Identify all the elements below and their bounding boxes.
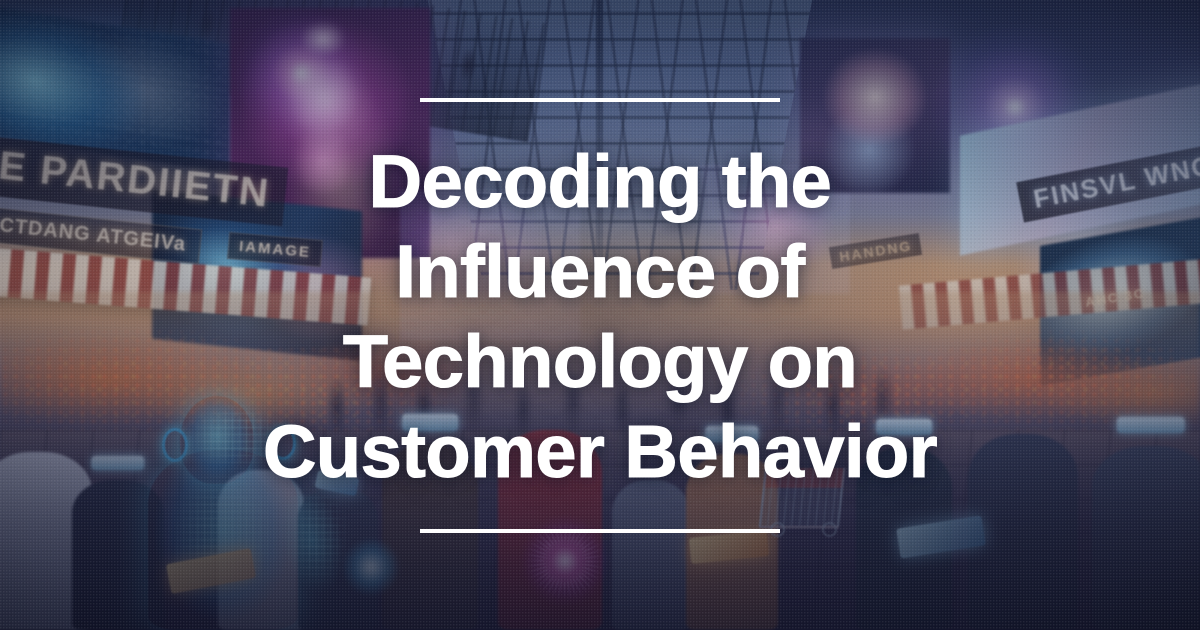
title-line-3: Technology on [263,317,937,407]
hero-banner: E PARDIIETN CTDANG ATGEIVa IAMAGE FINSVL… [0,0,1200,630]
divider-rule-top [420,98,780,102]
page-title: Decoding the Influence of Technology on … [263,137,937,497]
title-line-4: Customer Behavior [263,407,937,497]
divider-rule-bottom [420,529,780,533]
title-line-2: Influence of [263,227,937,317]
title-block: Decoding the Influence of Technology on … [0,0,1200,630]
title-line-1: Decoding the [263,137,937,227]
